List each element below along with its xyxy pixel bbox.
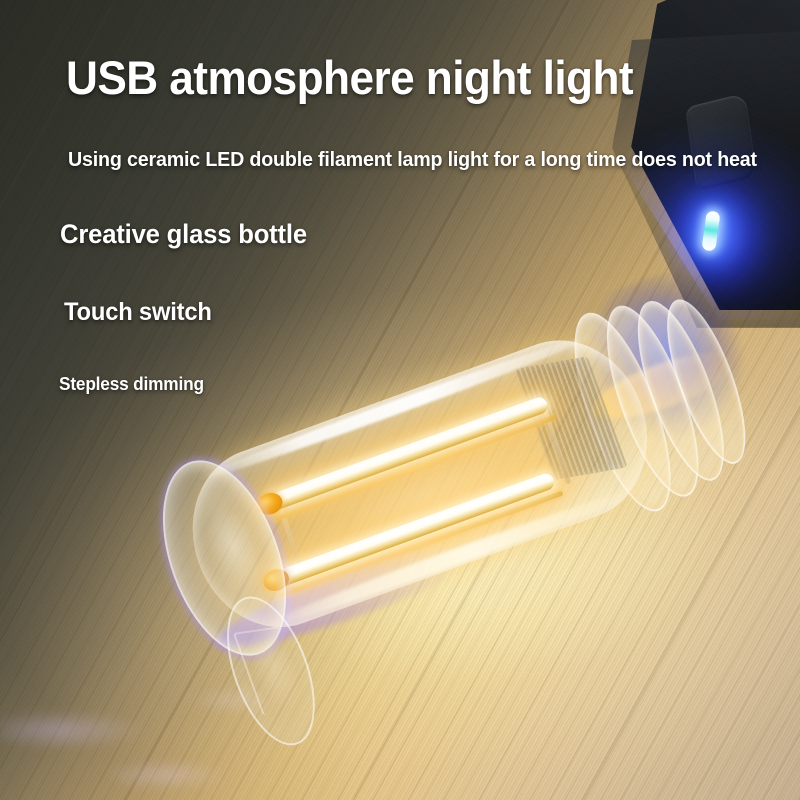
headline-text: USB atmosphere night light	[66, 52, 633, 104]
feature-text-2: Touch switch	[64, 298, 212, 327]
feature-text-3: Stepless dimming	[59, 374, 204, 395]
feature-text-1: Creative glass bottle	[60, 219, 307, 250]
product-image-canvas: USB atmosphere night light Using ceramic…	[0, 0, 800, 800]
subtitle-text: Using ceramic LED double filament lamp l…	[68, 148, 757, 172]
